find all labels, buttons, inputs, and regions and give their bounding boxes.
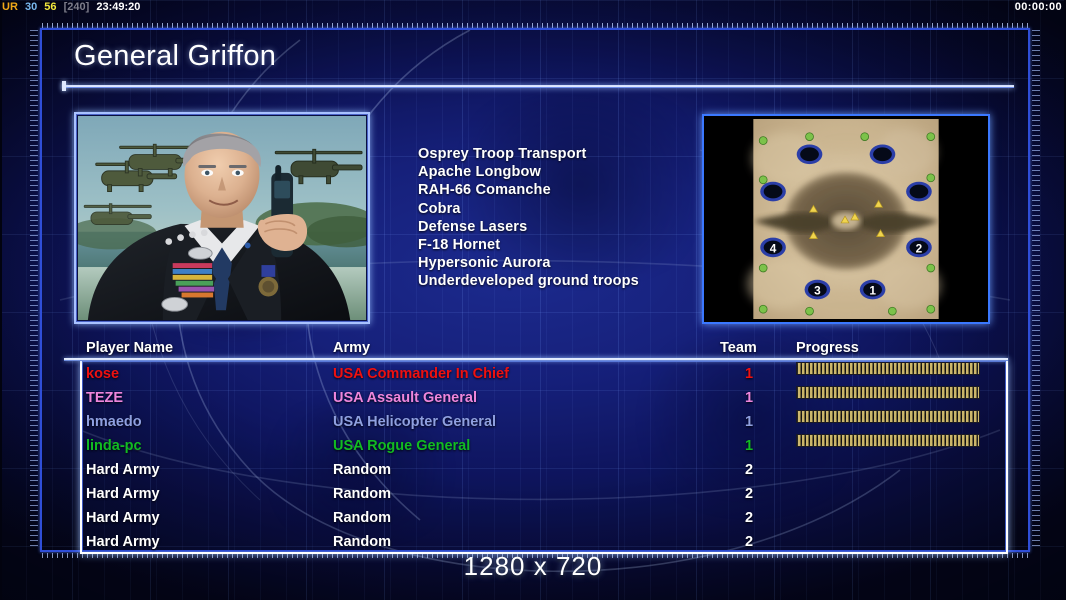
status-label: UR bbox=[2, 1, 18, 13]
cell-player-name: linda-pc bbox=[86, 434, 142, 458]
cell-player-name: TEZE bbox=[86, 386, 123, 410]
unit-list-item: Underdeveloped ground troops bbox=[418, 272, 639, 290]
cell-army: USA Helicopter General bbox=[333, 410, 496, 434]
map-preview[interactable]: 4 2 3 1 bbox=[707, 119, 985, 319]
status-value: 56 bbox=[44, 1, 56, 13]
cell-progress bbox=[796, 410, 980, 423]
status-clock-right: 00:00:00 bbox=[1015, 0, 1062, 15]
start-position-marker bbox=[870, 144, 896, 164]
table-row[interactable]: hmaedoUSA Helicopter General1 bbox=[86, 410, 1006, 434]
progress-bar-fill bbox=[797, 435, 979, 446]
cell-team: 1 bbox=[741, 434, 757, 458]
general-portrait-box bbox=[74, 112, 370, 324]
map-preview-box[interactable]: 4 2 3 1 bbox=[702, 114, 990, 324]
cell-player-name: Hard Army bbox=[86, 506, 160, 530]
cell-army: USA Assault General bbox=[333, 386, 477, 410]
cell-army: Random bbox=[333, 506, 391, 530]
unit-list: Osprey Troop Transport Apache Longbow RA… bbox=[418, 145, 639, 291]
progress-bar-fill bbox=[797, 387, 979, 398]
status-fps: 30 bbox=[25, 1, 37, 13]
title-divider bbox=[62, 85, 1014, 88]
table-row[interactable]: koseUSA Commander In Chief1 bbox=[86, 362, 1006, 386]
column-header-team: Team bbox=[720, 340, 757, 356]
status-bar: UR 30 56 [240] 23:49:20 00:00:00 bbox=[0, 0, 1066, 15]
title-panel: General Griffon bbox=[62, 38, 1014, 94]
progress-bar bbox=[796, 410, 980, 423]
cell-army: Random bbox=[333, 458, 391, 482]
unit-list-item: Osprey Troop Transport bbox=[418, 145, 639, 163]
start-position-marker-4: 4 bbox=[760, 238, 786, 258]
column-header-progress: Progress bbox=[796, 340, 859, 356]
cell-army: USA Rogue General bbox=[333, 434, 470, 458]
table-row[interactable]: linda-pcUSA Rogue General1 bbox=[86, 434, 1006, 458]
resolution-label: 1280 x 720 bbox=[0, 551, 1066, 582]
cell-player-name: Hard Army bbox=[86, 482, 160, 506]
start-position-label-2: 2 bbox=[916, 242, 923, 255]
player-table-body: koseUSA Commander In Chief1TEZEUSA Assau… bbox=[86, 362, 1006, 554]
cell-player-name: hmaedo bbox=[86, 410, 142, 434]
cell-army: USA Commander In Chief bbox=[333, 362, 509, 386]
unit-list-item: F-18 Hornet bbox=[418, 236, 639, 254]
status-bracket: [240] bbox=[64, 1, 90, 13]
unit-list-item: Apache Longbow bbox=[418, 163, 639, 181]
cell-army: Random bbox=[333, 482, 391, 506]
start-position-marker bbox=[797, 144, 823, 164]
column-header-player-name: Player Name bbox=[86, 340, 173, 356]
table-row[interactable]: Hard ArmyRandom2 bbox=[86, 458, 1006, 482]
unit-list-item: RAH-66 Comanche bbox=[418, 181, 639, 199]
cell-player-name: kose bbox=[86, 362, 119, 386]
start-position-marker bbox=[906, 182, 932, 202]
cell-team: 1 bbox=[741, 410, 757, 434]
table-row[interactable]: Hard ArmyRandom2 bbox=[86, 482, 1006, 506]
progress-bar-fill bbox=[797, 363, 979, 374]
progress-bar bbox=[796, 386, 980, 399]
status-bar-left: UR 30 56 [240] 23:49:20 bbox=[2, 0, 144, 15]
column-header-army: Army bbox=[333, 340, 370, 356]
cell-team: 1 bbox=[741, 362, 757, 386]
progress-bar bbox=[796, 362, 980, 375]
start-position-label-4: 4 bbox=[770, 242, 777, 255]
cell-team: 2 bbox=[741, 506, 757, 530]
cell-team: 1 bbox=[741, 386, 757, 410]
progress-bar bbox=[796, 434, 980, 447]
cell-progress bbox=[796, 362, 980, 375]
cell-progress bbox=[796, 386, 980, 399]
table-header-divider bbox=[64, 358, 1008, 361]
map-preview-image: 4 2 3 1 bbox=[707, 119, 985, 319]
table-row[interactable]: Hard ArmyRandom2 bbox=[86, 506, 1006, 530]
start-position-marker bbox=[760, 182, 786, 202]
table-row[interactable]: TEZEUSA Assault General1 bbox=[86, 386, 1006, 410]
start-position-marker-1: 1 bbox=[860, 280, 886, 300]
cell-team: 2 bbox=[741, 482, 757, 506]
progress-bar-fill bbox=[797, 411, 979, 422]
game-screen: UR 30 56 [240] 23:49:20 00:00:00 General… bbox=[0, 0, 1066, 600]
start-position-marker-2: 2 bbox=[906, 238, 932, 258]
unit-list-item: Cobra bbox=[418, 200, 639, 218]
start-position-marker-3: 3 bbox=[805, 280, 831, 300]
general-portrait bbox=[78, 116, 366, 320]
cell-player-name: Hard Army bbox=[86, 458, 160, 482]
cell-team: 2 bbox=[741, 458, 757, 482]
start-position-label-3: 3 bbox=[814, 285, 821, 298]
page-title: General Griffon bbox=[74, 40, 276, 73]
start-position-label-1: 1 bbox=[869, 285, 876, 298]
player-table-header: Player Name Army Team Progress bbox=[86, 340, 1006, 358]
title-divider-cap bbox=[62, 81, 66, 91]
cell-progress bbox=[796, 434, 980, 447]
general-portrait-image bbox=[78, 116, 366, 320]
unit-list-item: Hypersonic Aurora bbox=[418, 254, 639, 272]
screen-edge-left bbox=[0, 0, 2, 600]
status-clock-left: 23:49:20 bbox=[96, 1, 140, 13]
unit-list-item: Defense Lasers bbox=[418, 218, 639, 236]
